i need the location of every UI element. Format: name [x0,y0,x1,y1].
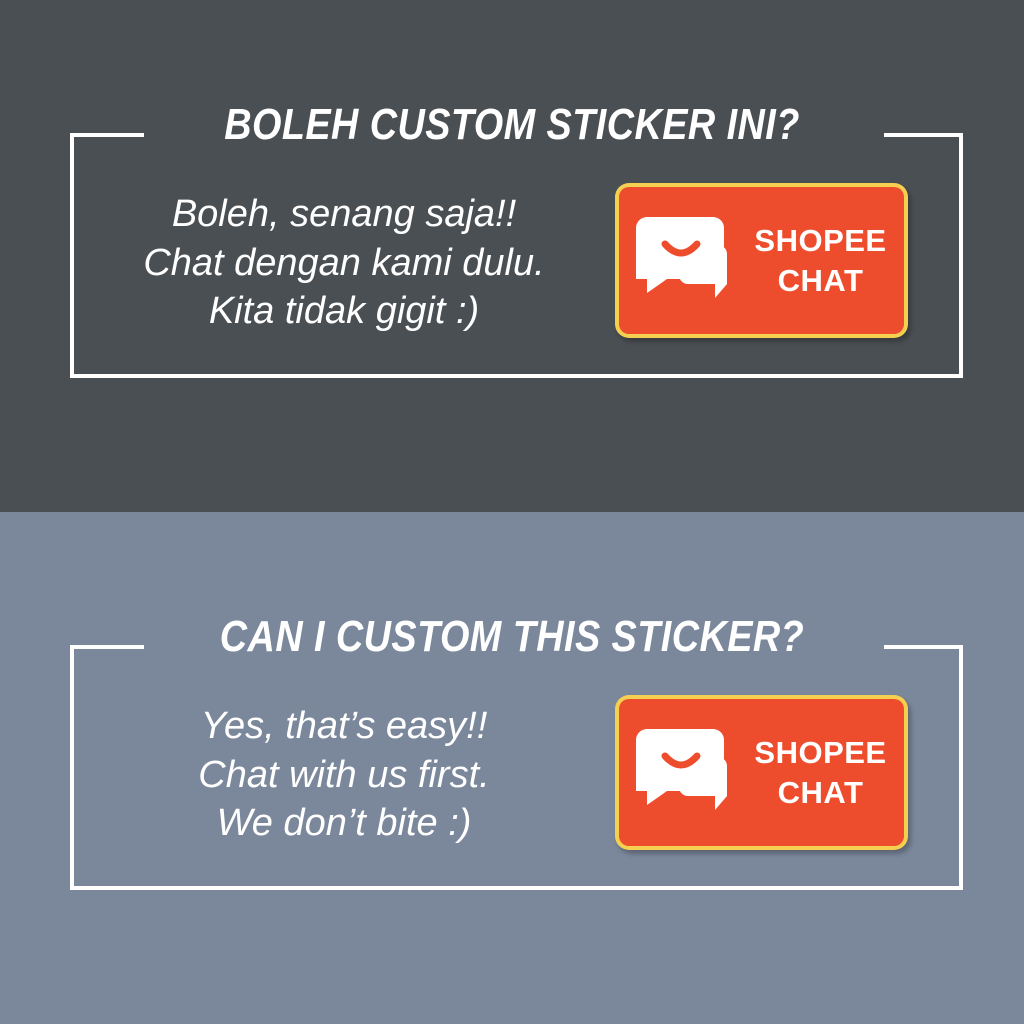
copy-line-2: Chat dengan kami dulu. [88,239,600,288]
shopee-chat-button-face: SHOPEE CHAT [619,187,904,334]
shopee-chat-bubbles-icon [636,215,740,307]
panel-english: CAN I CUSTOM THIS STICKER? Yes, that’s e… [0,512,1024,1024]
sticker-banner: BOLEH CUSTOM STICKER INI? Boleh, senang … [0,0,1024,1024]
copy-line-3: Kita tidak gigit :) [88,287,600,336]
button-label-line-1: SHOPEE [754,221,886,260]
copy-line-1: Boleh, senang saja!! [88,190,600,239]
button-label-line-1: SHOPEE [754,733,886,772]
copy-line-3: We don’t bite :) [88,799,600,848]
copy-line-2: Chat with us first. [88,751,600,800]
shopee-chat-button-label: SHOPEE CHAT [754,221,886,300]
shopee-chat-button-label: SHOPEE CHAT [754,733,886,812]
copy-line-1: Yes, that’s easy!! [88,702,600,751]
panel-title-indonesian: BOLEH CUSTOM STICKER INI? [72,103,953,147]
button-label-line-2: CHAT [754,261,886,300]
panel-copy-english: Yes, that’s easy!! Chat with us first. W… [88,702,600,848]
panel-title-english: CAN I CUSTOM THIS STICKER? [72,615,953,659]
shopee-chat-bubbles-icon [636,727,740,819]
shopee-chat-button-english[interactable]: SHOPEE CHAT [615,695,908,850]
shopee-chat-button-face: SHOPEE CHAT [619,699,904,846]
panel-indonesian: BOLEH CUSTOM STICKER INI? Boleh, senang … [0,0,1024,512]
panel-copy-indonesian: Boleh, senang saja!! Chat dengan kami du… [88,190,600,336]
button-label-line-2: CHAT [754,773,886,812]
shopee-chat-button-indonesian[interactable]: SHOPEE CHAT [615,183,908,338]
